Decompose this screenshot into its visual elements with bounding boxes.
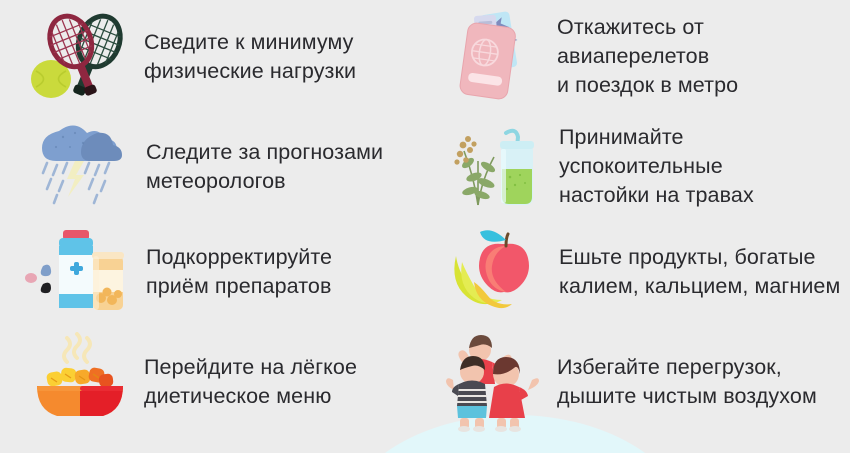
- tip-line-2: приём препаратов: [146, 274, 332, 298]
- hot-bowl-icon: [18, 332, 138, 432]
- tip-line-1: Избегайте перегрузок,: [557, 355, 782, 379]
- tip-adjust-medication[interactable]: Подкорректируйтеприём препаратов: [0, 220, 425, 323]
- tip-label: Подкорректируйтеприём препаратов: [138, 243, 332, 301]
- tip-line-2: физические нагрузки: [144, 59, 356, 83]
- tip-line-2: диетическое меню: [144, 384, 331, 408]
- tip-line-2: настойки на травах: [559, 183, 754, 207]
- tip-avoid-overload[interactable]: Избегайте перегрузок,дышите чистым возду…: [425, 323, 850, 441]
- tip-line-1: Ешьте продукты, богатые: [559, 245, 816, 269]
- tip-label: Перейдите на лёгкоедиетическое меню: [138, 353, 357, 411]
- tip-line-1: Откажитесь от авиаперелетов: [557, 15, 709, 68]
- tip-line-1: Подкорректируйте: [146, 245, 332, 269]
- children-playing-icon: [443, 332, 551, 432]
- tip-weather-forecast[interactable]: Следите за прогнозамиметеорологов: [0, 113, 425, 220]
- herbs-jar-icon: [443, 117, 551, 217]
- tip-light-diet-menu[interactable]: Перейдите на лёгкоедиетическое меню: [0, 323, 425, 441]
- banana-apple-icon: [443, 222, 551, 322]
- tip-line-2: дышите чистым воздухом: [557, 384, 817, 408]
- tennis-rackets-icon: [18, 7, 138, 107]
- tip-line-2: метеорологов: [146, 169, 286, 193]
- tip-potassium-rich-food[interactable]: Ешьте продукты, богатыекалием, кальцием,…: [425, 220, 850, 323]
- tip-label: Избегайте перегрузок,дышите чистым возду…: [551, 353, 817, 411]
- tip-label: Откажитесь от авиаперелетови поездок в м…: [551, 13, 850, 100]
- tips-grid: Сведите к минимумуфизические нагрузки: [0, 0, 850, 441]
- rain-cloud-lightning-icon: [18, 117, 138, 217]
- tip-air-travel-metro[interactable]: Откажитесь от авиаперелетови поездок в м…: [425, 0, 850, 113]
- tip-herbal-sedatives[interactable]: Принимайте успокоительныенастойки на тра…: [425, 113, 850, 220]
- tip-label: Принимайте успокоительныенастойки на тра…: [551, 123, 850, 210]
- infographic-canvas: Сведите к минимумуфизические нагрузки: [0, 0, 850, 453]
- tip-line-1: Следите за прогнозами: [146, 140, 383, 164]
- tip-label: Ешьте продукты, богатыекалием, кальцием,…: [551, 243, 840, 301]
- medicine-bottles-icon: [18, 222, 138, 322]
- tip-label: Следите за прогнозамиметеорологов: [138, 138, 383, 196]
- tip-label: Сведите к минимумуфизические нагрузки: [138, 28, 356, 86]
- tip-line-2: калием, кальцием, магнием: [559, 274, 840, 298]
- passport-tickets-icon: [443, 7, 551, 107]
- tip-line-1: Принимайте успокоительные: [559, 125, 723, 178]
- tip-line-1: Сведите к минимуму: [144, 30, 353, 54]
- tip-line-1: Перейдите на лёгкое: [144, 355, 357, 379]
- tip-line-2: и поездок в метро: [557, 73, 738, 97]
- tip-physical-activity[interactable]: Сведите к минимумуфизические нагрузки: [0, 0, 425, 113]
